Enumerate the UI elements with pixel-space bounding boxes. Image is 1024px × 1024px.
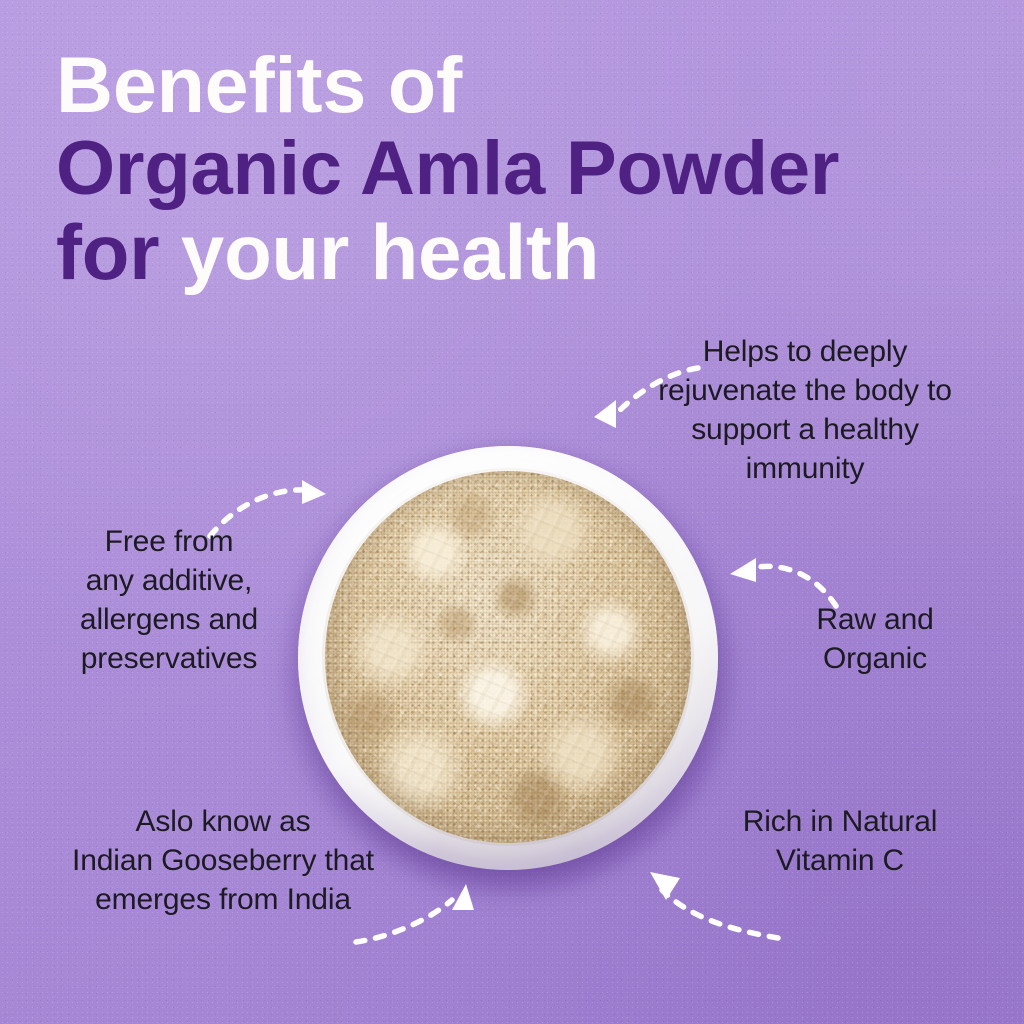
headline-line-3-prefix: for [56,208,181,296]
page-title: Benefits of Organic Amla Powder for your… [56,48,986,289]
callout-gooseberry: Aslo know as Indian Gooseberry that emer… [48,802,398,919]
poster-canvas: Benefits of Organic Amla Powder for your… [0,0,1024,1024]
callout-vitamin-c: Rich in Natural Vitamin C [700,802,980,880]
headline-line-2: Organic Amla Powder [56,133,986,204]
powder-texture-overlay [325,471,691,843]
amla-powder [325,471,691,843]
headline-line-3: for your health [56,216,986,289]
headline-line-1: Benefits of [56,48,986,122]
headline-line-3-emphasis: your health [181,208,599,296]
callout-raw-organic: Raw and Organic [768,600,982,678]
callout-free-from: Free from any additive, allergens and pr… [32,522,306,678]
callout-immunity: Helps to deeply rejuvenate the body to s… [640,332,970,488]
